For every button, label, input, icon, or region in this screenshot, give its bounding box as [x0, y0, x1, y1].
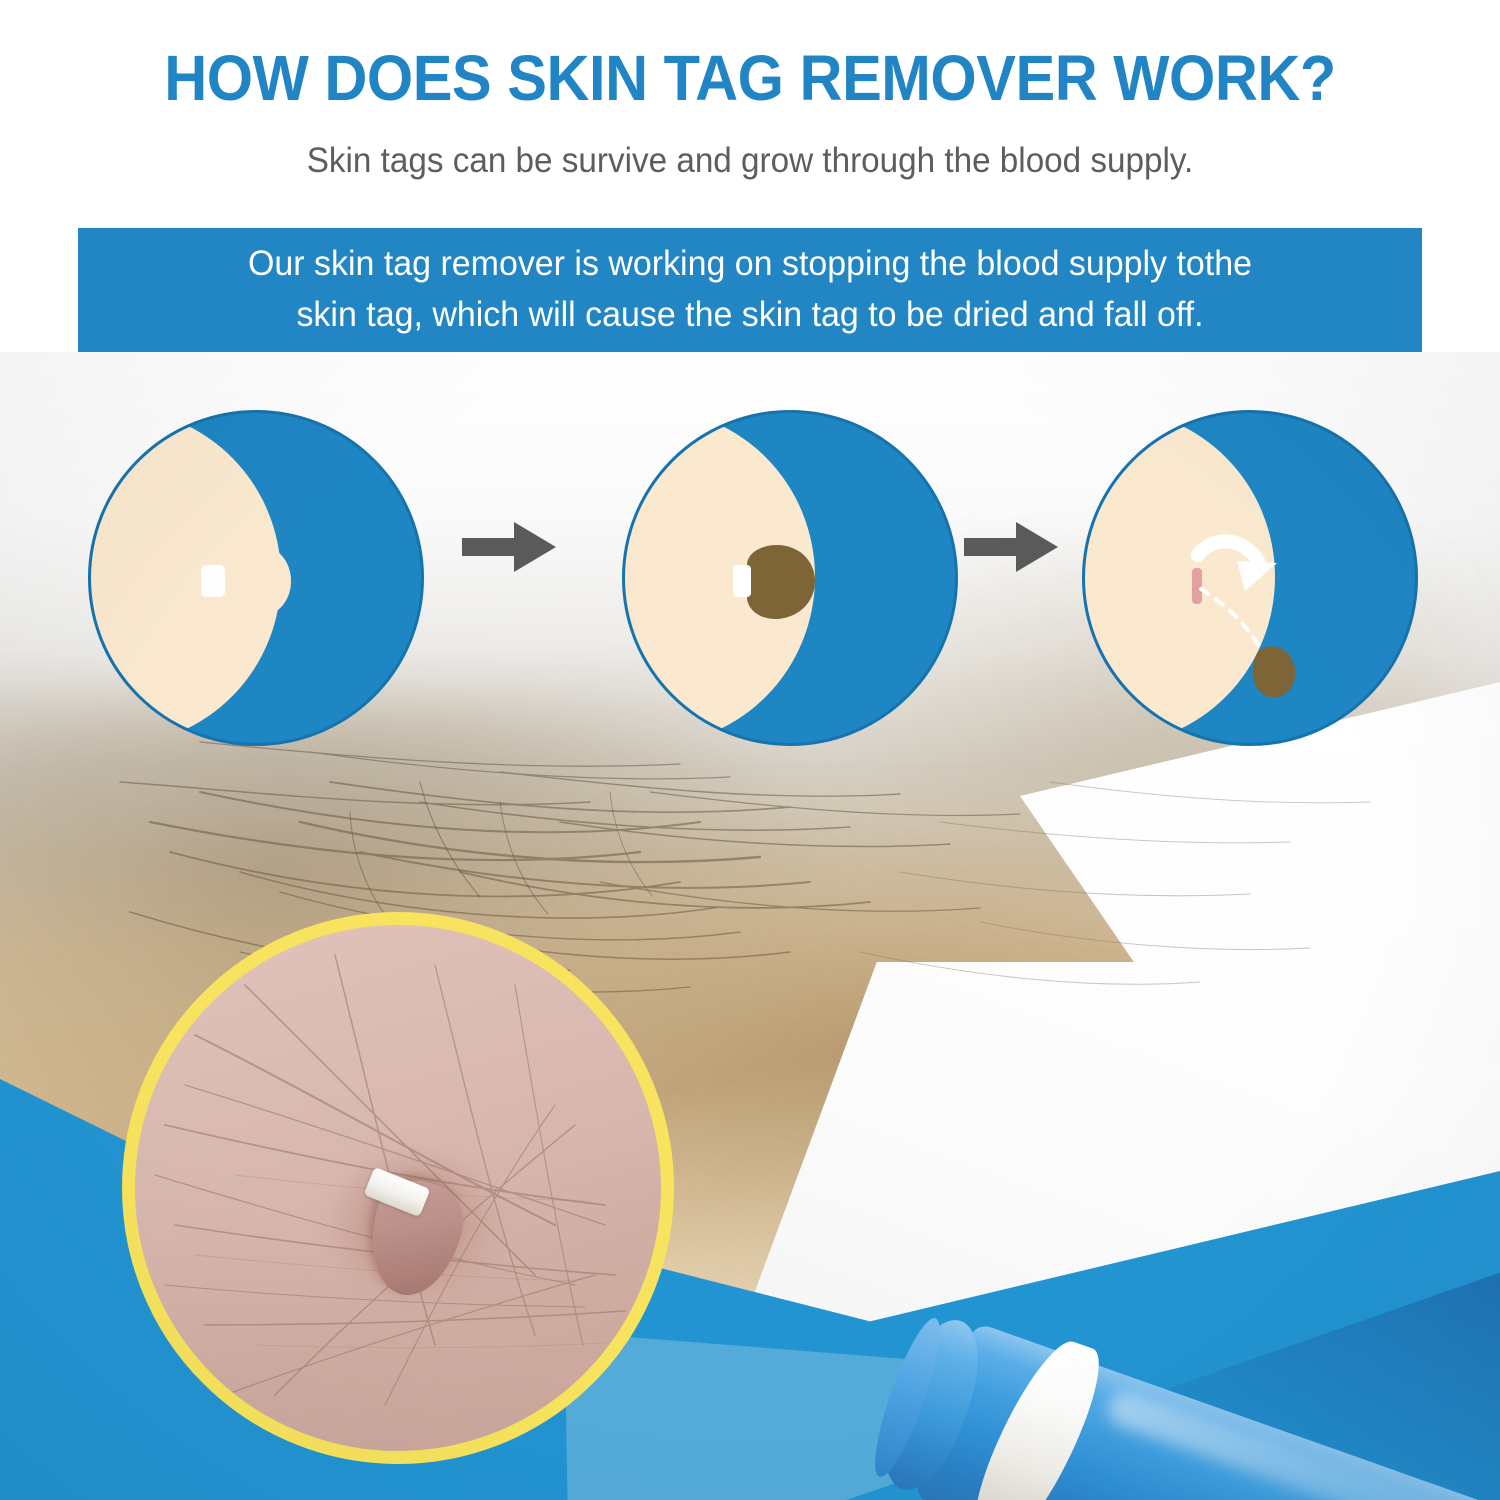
step-2-circle: [622, 410, 958, 746]
step-2-removal-band: [733, 565, 751, 597]
page-subtitle: Skin tags can be survive and grow throug…: [38, 140, 1463, 182]
connector-arrow-1: [462, 520, 556, 574]
info-banner-line-1: Our skin tag remover is working on stopp…: [248, 244, 1252, 283]
step-3-detach-arrow: [1198, 541, 1277, 591]
connector-arrow-2: [964, 520, 1058, 574]
info-banner-line-2: skin tag, which will cause the skin tag …: [296, 295, 1203, 334]
step-1-skin-tag: [217, 543, 291, 619]
info-banner-text: Our skin tag remover is working on stopp…: [134, 239, 1366, 341]
page-title: HOW DOES SKIN TAG REMOVER WORK?: [53, 46, 1448, 110]
magnifier-circle: [122, 912, 674, 1464]
step-3-fall-path: [1201, 589, 1265, 657]
step-3-residual-mark: [1192, 568, 1202, 604]
magnifier-content: [135, 925, 661, 1451]
infographic-page: HOW DOES SKIN TAG REMOVER WORK? Skin tag…: [0, 0, 1500, 1500]
step-1-removal-band: [201, 565, 225, 597]
step-3-circle: [1082, 410, 1418, 746]
info-banner: Our skin tag remover is working on stopp…: [78, 228, 1422, 352]
photo-stage: [0, 352, 1500, 1500]
step-3-fallen-skin-tag: [1253, 646, 1296, 697]
step-1-circle: [88, 410, 424, 746]
step-2-dried-skin-tag: [747, 545, 815, 619]
